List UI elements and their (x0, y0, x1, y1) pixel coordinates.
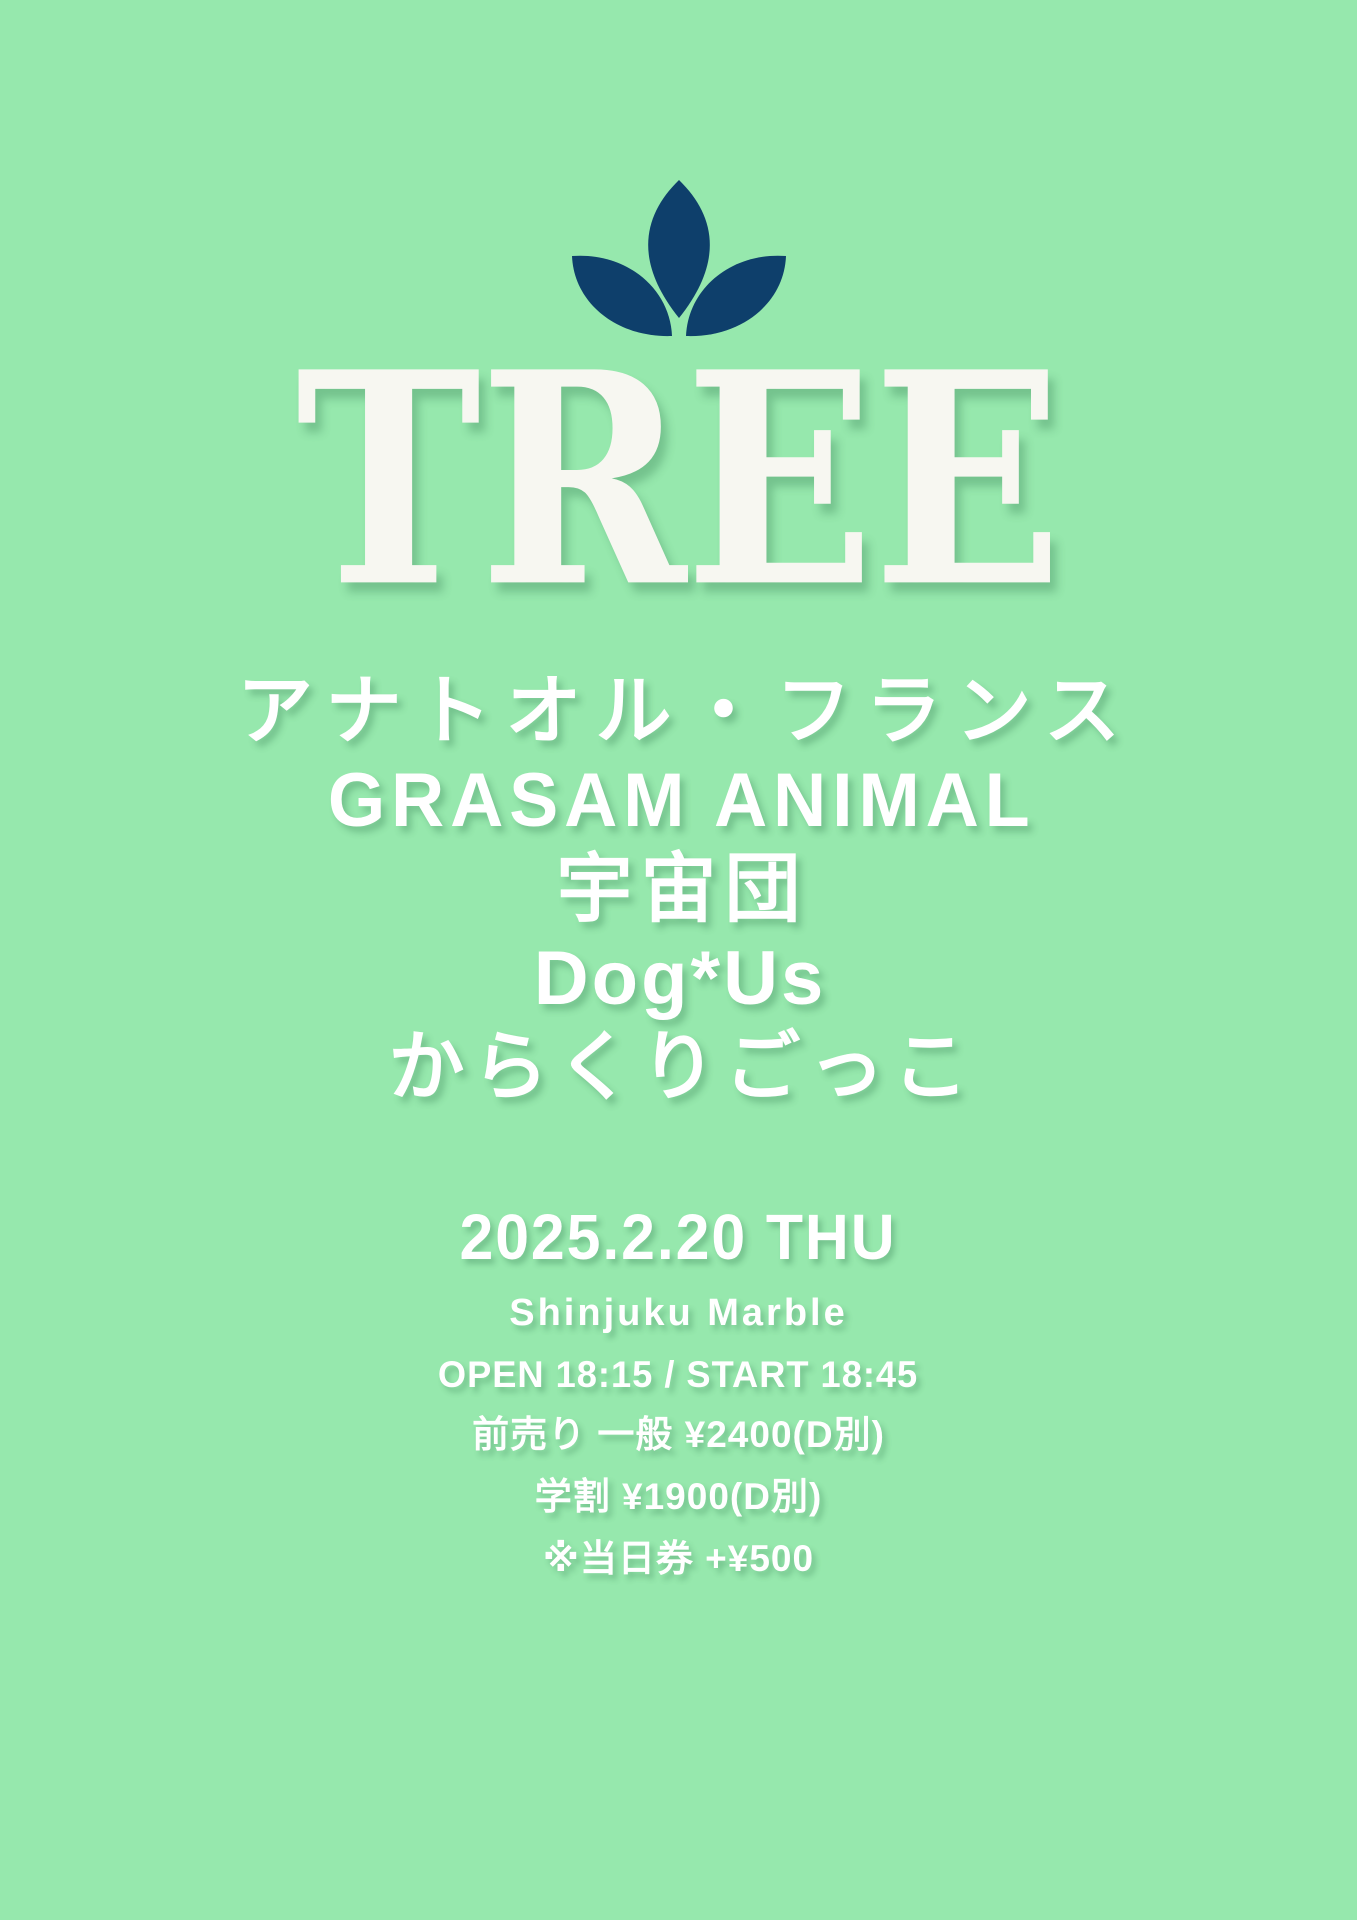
page-title: TREE (296, 347, 1061, 616)
lineup-list: アナトオル・フランス GRASAM ANIMAL 宇宙団 Dog*Us からくり… (0, 668, 1357, 1113)
event-venue: Shinjuku Marble (509, 1284, 847, 1343)
lineup-item-3: 宇宙団 (549, 846, 809, 935)
price-general: 前売り 一般 ¥2400(D別) (472, 1405, 885, 1465)
lineup-item-2: GRASAM ANIMAL (322, 757, 1036, 846)
price-student: 学割 ¥1900(D別) (535, 1467, 823, 1527)
event-flyer: TREE アナトオル・フランス GRASAM ANIMAL 宇宙団 Dog*Us… (0, 0, 1357, 1920)
price-door-note: ※当日券 +¥500 (543, 1529, 814, 1589)
title-block: TREE (267, 356, 1090, 606)
event-date: 2025.2.20 THU (460, 1197, 897, 1279)
lineup-item-4: Dog*Us (531, 935, 826, 1024)
event-info-block: 2025.2.20 THU Shinjuku Marble OPEN 18:15… (0, 1197, 1357, 1589)
lineup-item-1: アナトオル・フランス (223, 668, 1134, 757)
lineup-item-5: からくりごっこ (381, 1024, 977, 1113)
event-times: OPEN 18:15 / START 18:45 (438, 1347, 918, 1403)
